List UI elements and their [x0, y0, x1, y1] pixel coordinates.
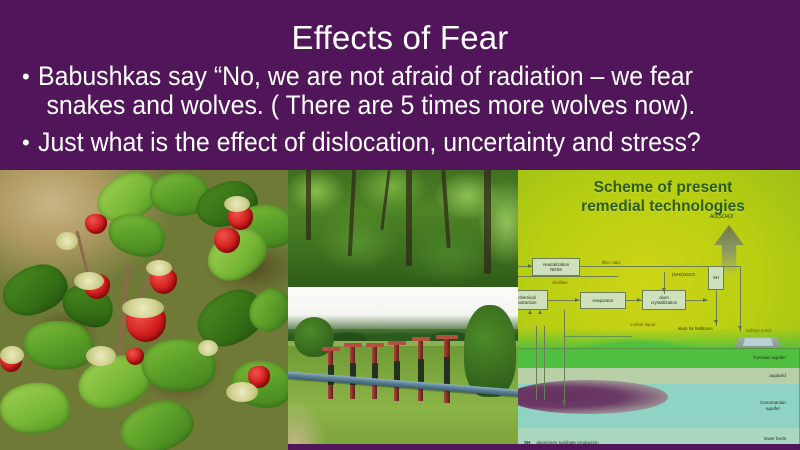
bullet-marker: •: [22, 128, 38, 157]
bullet-text-2: Just what is the effect of dislocation, …: [38, 128, 739, 157]
connector-arrow: [662, 288, 666, 292]
presentation-slide: Effects of Fear • Babushkas say “No, we …: [0, 0, 800, 450]
strawberry-calyx: [86, 346, 116, 366]
connector-line: [518, 276, 618, 277]
bullet-text-1: Babushkas say “No, we are not afraid of …: [38, 62, 739, 120]
injection-arrow: [562, 400, 566, 404]
bullet-item-2: • Just what is the effect of dislocation…: [22, 128, 784, 157]
image-strip: Scheme of present remedial technologies …: [0, 170, 800, 450]
process-box-sh: SH: [708, 266, 724, 290]
diagram-remedial-technologies: Scheme of present remedial technologies …: [518, 170, 800, 450]
product-label: Al2(SO4)3: [710, 214, 733, 220]
photo-wellhead-field: [288, 287, 518, 450]
process-box-chemical-extraction: chemical extraction: [518, 290, 548, 310]
bullet-marker: •: [22, 62, 38, 91]
flow-label-ammonium-sulphate: (NH4)2SO4: [672, 272, 695, 277]
bullet-item-1: • Babushkas say “No, we are not afraid o…: [22, 62, 784, 120]
process-box-neutralization: neutralization NDS6: [532, 258, 580, 276]
cross-section-frame: [518, 348, 800, 450]
dirt-patch: [288, 401, 325, 450]
strawberry-calyx: [226, 382, 258, 402]
strawberry-calyx: [0, 346, 24, 364]
strawberry-calyx: [224, 196, 250, 212]
page-title: Effects of Fear: [0, 20, 800, 56]
tree-trunk: [406, 170, 412, 266]
geological-cross-section: Turonian aquifer aquitard Cenomanian aqu…: [518, 330, 800, 450]
process-box-evaporator: evaporator: [580, 292, 626, 309]
flow-label-filter-cake: filter cake: [602, 260, 621, 265]
wellhead-cap: [412, 337, 430, 341]
connector-arrow: [528, 310, 532, 314]
scheme-title-line-2: remedial technologies: [532, 197, 794, 216]
flow-label-distillate: distillate: [552, 280, 568, 285]
scheme-title: Scheme of present remedial technologies: [532, 178, 794, 216]
connector-line: [740, 266, 741, 332]
wellhead-cap: [436, 335, 458, 339]
connector-arrow: [703, 298, 707, 302]
wellhead-cap: [388, 341, 406, 345]
connector-arrow: [538, 310, 542, 314]
wellhead-cap: [322, 347, 340, 351]
strawberry-calyx: [122, 298, 164, 318]
strawberry-calyx: [198, 340, 218, 356]
connector-line: [580, 266, 740, 267]
connector-arrow: [528, 264, 532, 268]
connector-arrow: [714, 320, 718, 324]
strawberry-calyx: [56, 232, 78, 250]
strawberry-calyx: [146, 260, 172, 276]
bottom-accent-strip: [288, 444, 800, 450]
tree-trunk: [306, 170, 311, 240]
wellhead-cap: [366, 343, 384, 347]
bullet-1-line-1: Babushkas say “No, we are not afraid of …: [38, 61, 693, 91]
bush: [464, 305, 516, 397]
tailings-pond-water: [743, 338, 774, 346]
bullet-2-line-1: Just what is the effect of dislocation, …: [38, 127, 701, 157]
bullet-1-line-2: snakes and wolves. ( There are 5 times m…: [38, 91, 739, 120]
slide-text-band: Effects of Fear • Babushkas say “No, we …: [0, 0, 800, 170]
photo-wild-strawberries: [0, 170, 288, 450]
connector-arrow: [637, 298, 641, 302]
wellhead-valve: [444, 357, 450, 385]
injection-well-line: [544, 326, 545, 400]
wellhead-cap: [344, 343, 362, 347]
injection-well-line: [536, 326, 537, 400]
connector-arrow: [575, 298, 579, 302]
photo-forest: [288, 170, 518, 287]
strawberry-calyx: [74, 272, 104, 290]
tree-trunk: [484, 170, 491, 274]
injection-well-line: [564, 326, 565, 406]
scheme-title-line-1: Scheme of present: [532, 178, 794, 197]
flow-label-mother-liquor: mother liquor: [630, 322, 656, 327]
